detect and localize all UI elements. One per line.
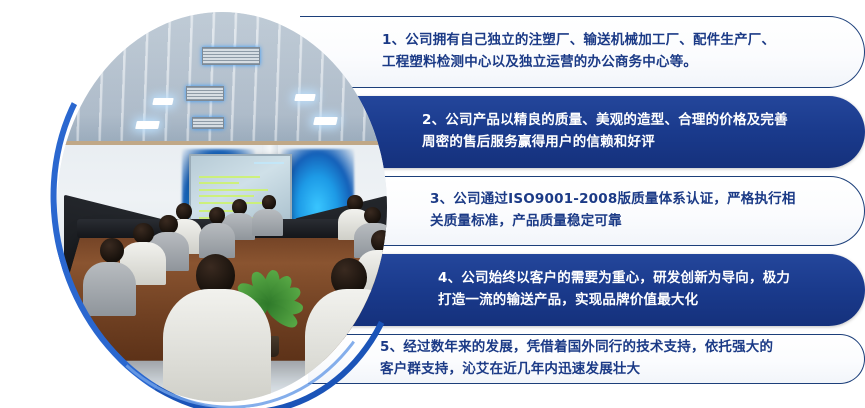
advantage-bar-2: 2、公司产品以精良的质量、美观的造型、合理的价格及完善 周密的售后服务赢得用户的… bbox=[330, 96, 865, 168]
attendee-body bbox=[199, 223, 235, 258]
attendee-body bbox=[305, 289, 388, 402]
meeting-room-photo-image bbox=[57, 12, 387, 402]
ceiling-vent-icon bbox=[186, 86, 224, 100]
screen-accent bbox=[254, 162, 284, 164]
ceiling-light bbox=[135, 121, 160, 129]
attendee-head bbox=[262, 195, 277, 210]
advantage-bar-3: 3、公司通过ISO9001-2008版质量体系认证，严格执行相 关质量标准，产品… bbox=[352, 176, 865, 246]
ceiling-light bbox=[152, 98, 173, 105]
ceiling-vent-icon bbox=[202, 47, 260, 65]
ceiling-light bbox=[314, 117, 339, 125]
attendee-body bbox=[252, 209, 283, 236]
meeting-room-photo bbox=[57, 12, 387, 402]
advantage-bar-4: 4、公司始终以客户的需要为重心，研发创新为导向，极力 打造一流的输送产品，实现品… bbox=[340, 254, 865, 326]
attendee-body bbox=[83, 262, 136, 317]
ceiling-light bbox=[294, 94, 315, 101]
ceiling-vent-icon bbox=[192, 117, 224, 129]
attendee-body bbox=[163, 289, 272, 402]
screen-text-line bbox=[199, 182, 239, 184]
screen-text-line bbox=[199, 176, 260, 178]
advantage-text-2: 2、公司产品以精良的质量、美观的造型、合理的价格及完善 周密的售后服务赢得用户的… bbox=[330, 110, 822, 154]
advantage-bar-5: 5、经过数年来的发展，凭借着国外同行的技术支持，依托强大的 客户群支持，沁艾在近… bbox=[308, 334, 865, 384]
advantage-text-4: 4、公司始终以客户的需要为重心，研发创新为导向，极力 打造一流的输送产品，实现品… bbox=[340, 268, 824, 312]
screen-text-line bbox=[199, 189, 268, 191]
company-advantages-banner: 1、公司拥有自己独立的注塑厂、输送机械加工厂、配件生产厂、 工程塑料检测中心以及… bbox=[0, 0, 865, 408]
advantage-text-3: 3、公司通过ISO9001-2008版质量体系认证，严格执行相 关质量标准，产品… bbox=[352, 189, 842, 233]
screen-text-line bbox=[199, 195, 254, 197]
